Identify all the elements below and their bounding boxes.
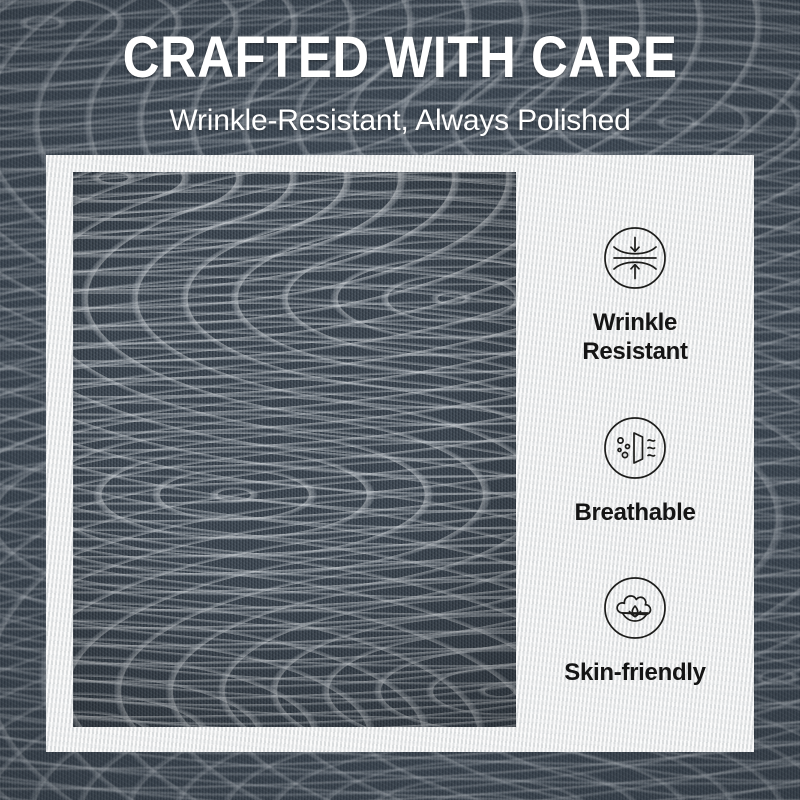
feature-label-wrinkle-resistant: Wrinkle Resistant	[582, 308, 687, 366]
fabric-swatch-photo	[73, 172, 516, 727]
feature-label-breathable: Breathable	[574, 498, 695, 527]
feature-list: Wrinkle Resistant	[516, 172, 754, 727]
wrinkle-resistant-icon	[599, 222, 671, 294]
feature-item-skin-friendly: Skin-friendly	[516, 572, 754, 687]
page-title: CRAFTED WITH CARE	[48, 27, 752, 89]
feature-item-breathable: Breathable	[516, 412, 754, 527]
breathable-icon	[599, 412, 671, 484]
skin-friendly-cotton-icon	[599, 572, 671, 644]
feature-label-skin-friendly: Skin-friendly	[564, 658, 705, 687]
photo-vignette	[73, 172, 516, 727]
page-subtitle: Wrinkle-Resistant, Always Polished	[0, 103, 800, 139]
feature-item-wrinkle-resistant: Wrinkle Resistant	[516, 222, 754, 366]
product-feature-poster: CRAFTED WITH CARE Wrinkle-Resistant, Alw…	[0, 0, 800, 800]
